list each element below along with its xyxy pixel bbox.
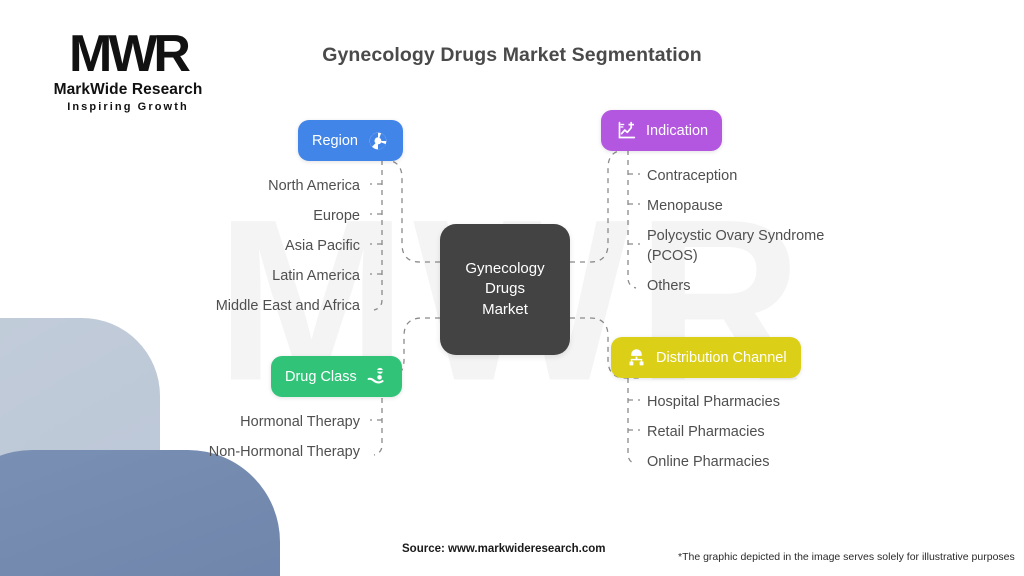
- leaf-region-north-america: North America: [156, 176, 360, 196]
- medical-chart-icon: [615, 120, 637, 142]
- leaf-drug-class-non-hormonal-therapy: Non-Hormonal Therapy: [156, 442, 360, 462]
- globe-icon: [367, 130, 389, 152]
- branch-label-drug-class: Drug Class: [285, 369, 357, 385]
- leaf-indication-contraception: Contraception: [647, 166, 737, 186]
- branch-label-indication: Indication: [646, 123, 708, 139]
- network-hierarchy-icon: [625, 347, 647, 369]
- leaf-drug-class-hormonal-therapy: Hormonal Therapy: [156, 412, 360, 432]
- branch-label-region: Region: [312, 133, 358, 149]
- leaf-indication-pcos: Polycystic Ovary Syndrome (PCOS): [647, 226, 847, 266]
- source-label: Source: www.markwideresearch.com: [402, 543, 605, 555]
- leaf-region-asia-pacific: Asia Pacific: [156, 236, 360, 256]
- branch-pill-distribution-channel[interactable]: Distribution Channel: [611, 337, 801, 378]
- branch-pill-drug-class[interactable]: Drug Class: [271, 356, 402, 397]
- center-node-line-1: Gynecology: [465, 259, 544, 279]
- center-node-line-2: Drugs: [465, 279, 544, 299]
- branch-label-distribution-channel: Distribution Channel: [656, 350, 787, 366]
- branch-pill-region[interactable]: Region: [298, 120, 403, 161]
- center-node-line-3: Market: [465, 300, 544, 320]
- branch-pill-indication[interactable]: Indication: [601, 110, 722, 151]
- leaf-distribution-hospital-pharmacies: Hospital Pharmacies: [647, 392, 780, 412]
- leaf-region-latin-america: Latin America: [156, 266, 360, 286]
- leaf-indication-others: Others: [647, 276, 691, 296]
- leaf-region-europe: Europe: [156, 206, 360, 226]
- leaf-distribution-retail-pharmacies: Retail Pharmacies: [647, 422, 765, 442]
- disclaimer-label: *The graphic depicted in the image serve…: [678, 551, 1015, 563]
- pills-hand-icon: [366, 366, 388, 388]
- leaf-indication-menopause: Menopause: [647, 196, 723, 216]
- segmentation-diagram: Gynecology Drugs Market Region Drug Clas…: [0, 0, 1024, 576]
- center-node: Gynecology Drugs Market: [440, 224, 570, 355]
- leaf-distribution-online-pharmacies: Online Pharmacies: [647, 452, 770, 472]
- leaf-region-middle-east-africa: Middle East and Africa: [156, 296, 360, 316]
